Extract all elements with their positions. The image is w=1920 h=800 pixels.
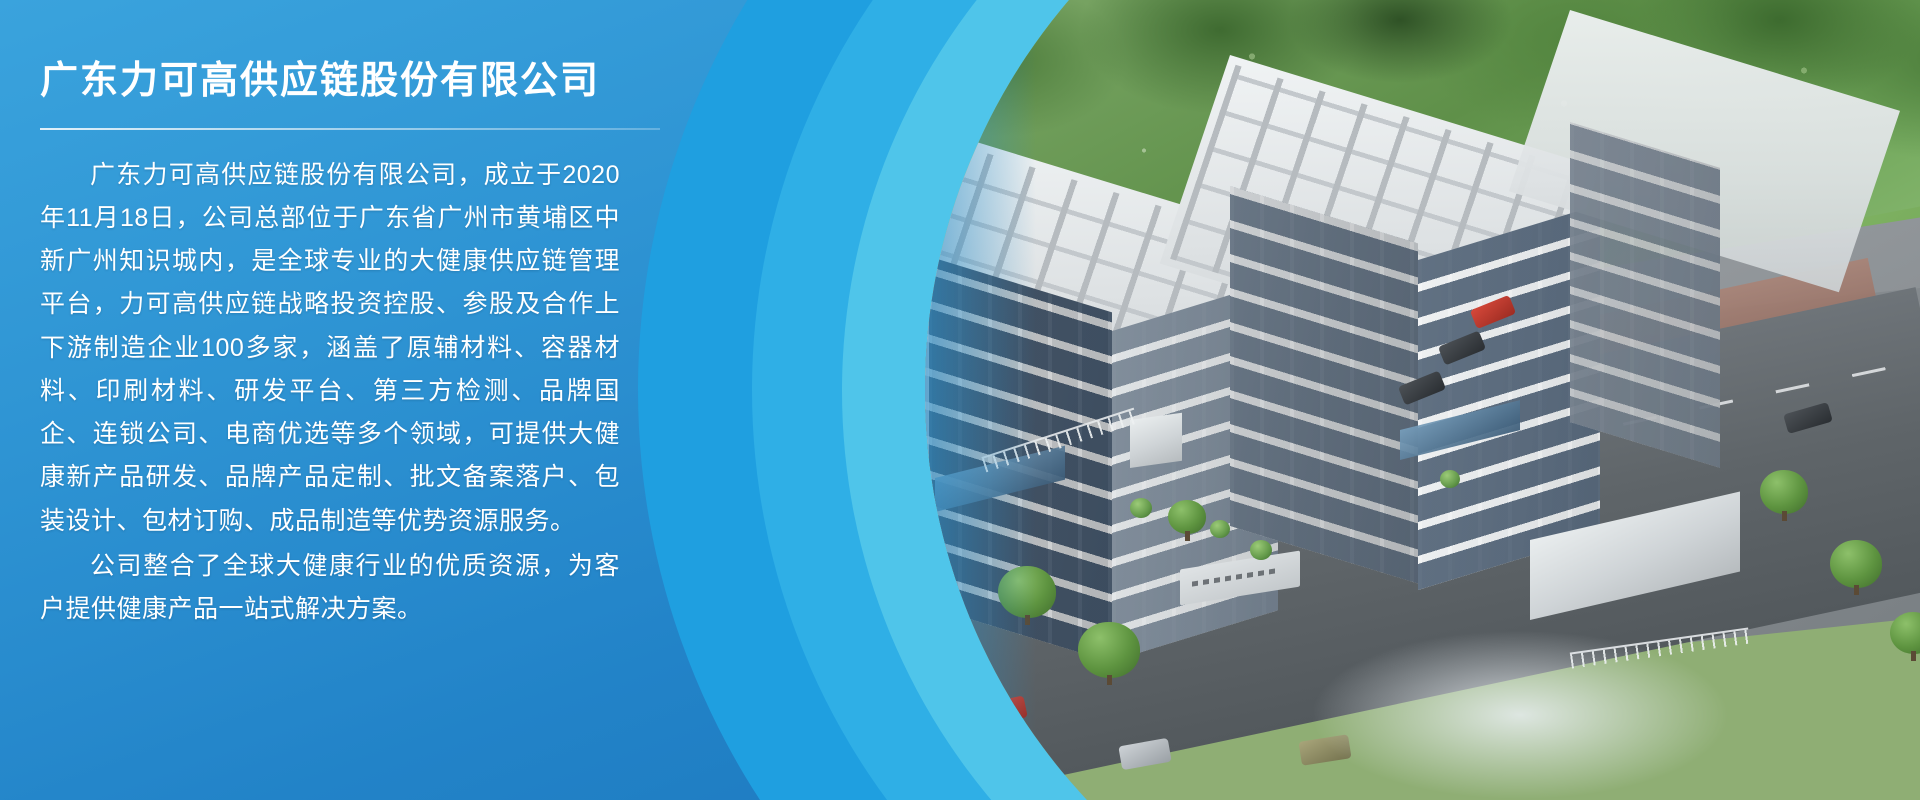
page-title: 广东力可高供应链股份有限公司 (40, 58, 660, 106)
aerial-building-photo (925, 0, 1920, 800)
photo-edge-fade (925, 0, 1920, 800)
title-divider (40, 128, 660, 130)
company-profile-banner: 广东力可高供应链股份有限公司 广东力可高供应链股份有限公司，成立于2020年11… (0, 0, 1920, 800)
company-description: 广东力可高供应链股份有限公司，成立于2020年11月18日，公司总部位于广东省广… (40, 154, 620, 632)
description-paragraph-2: 公司整合了全球大健康行业的优质资源，为客户提供健康产品一站式解决方案。 (40, 545, 620, 632)
company-text-panel: 广东力可高供应链股份有限公司 广东力可高供应链股份有限公司，成立于2020年11… (0, 0, 660, 800)
description-paragraph-1: 广东力可高供应链股份有限公司，成立于2020年11月18日，公司总部位于广东省广… (40, 154, 620, 543)
banner-photo-circle (925, 0, 1920, 800)
